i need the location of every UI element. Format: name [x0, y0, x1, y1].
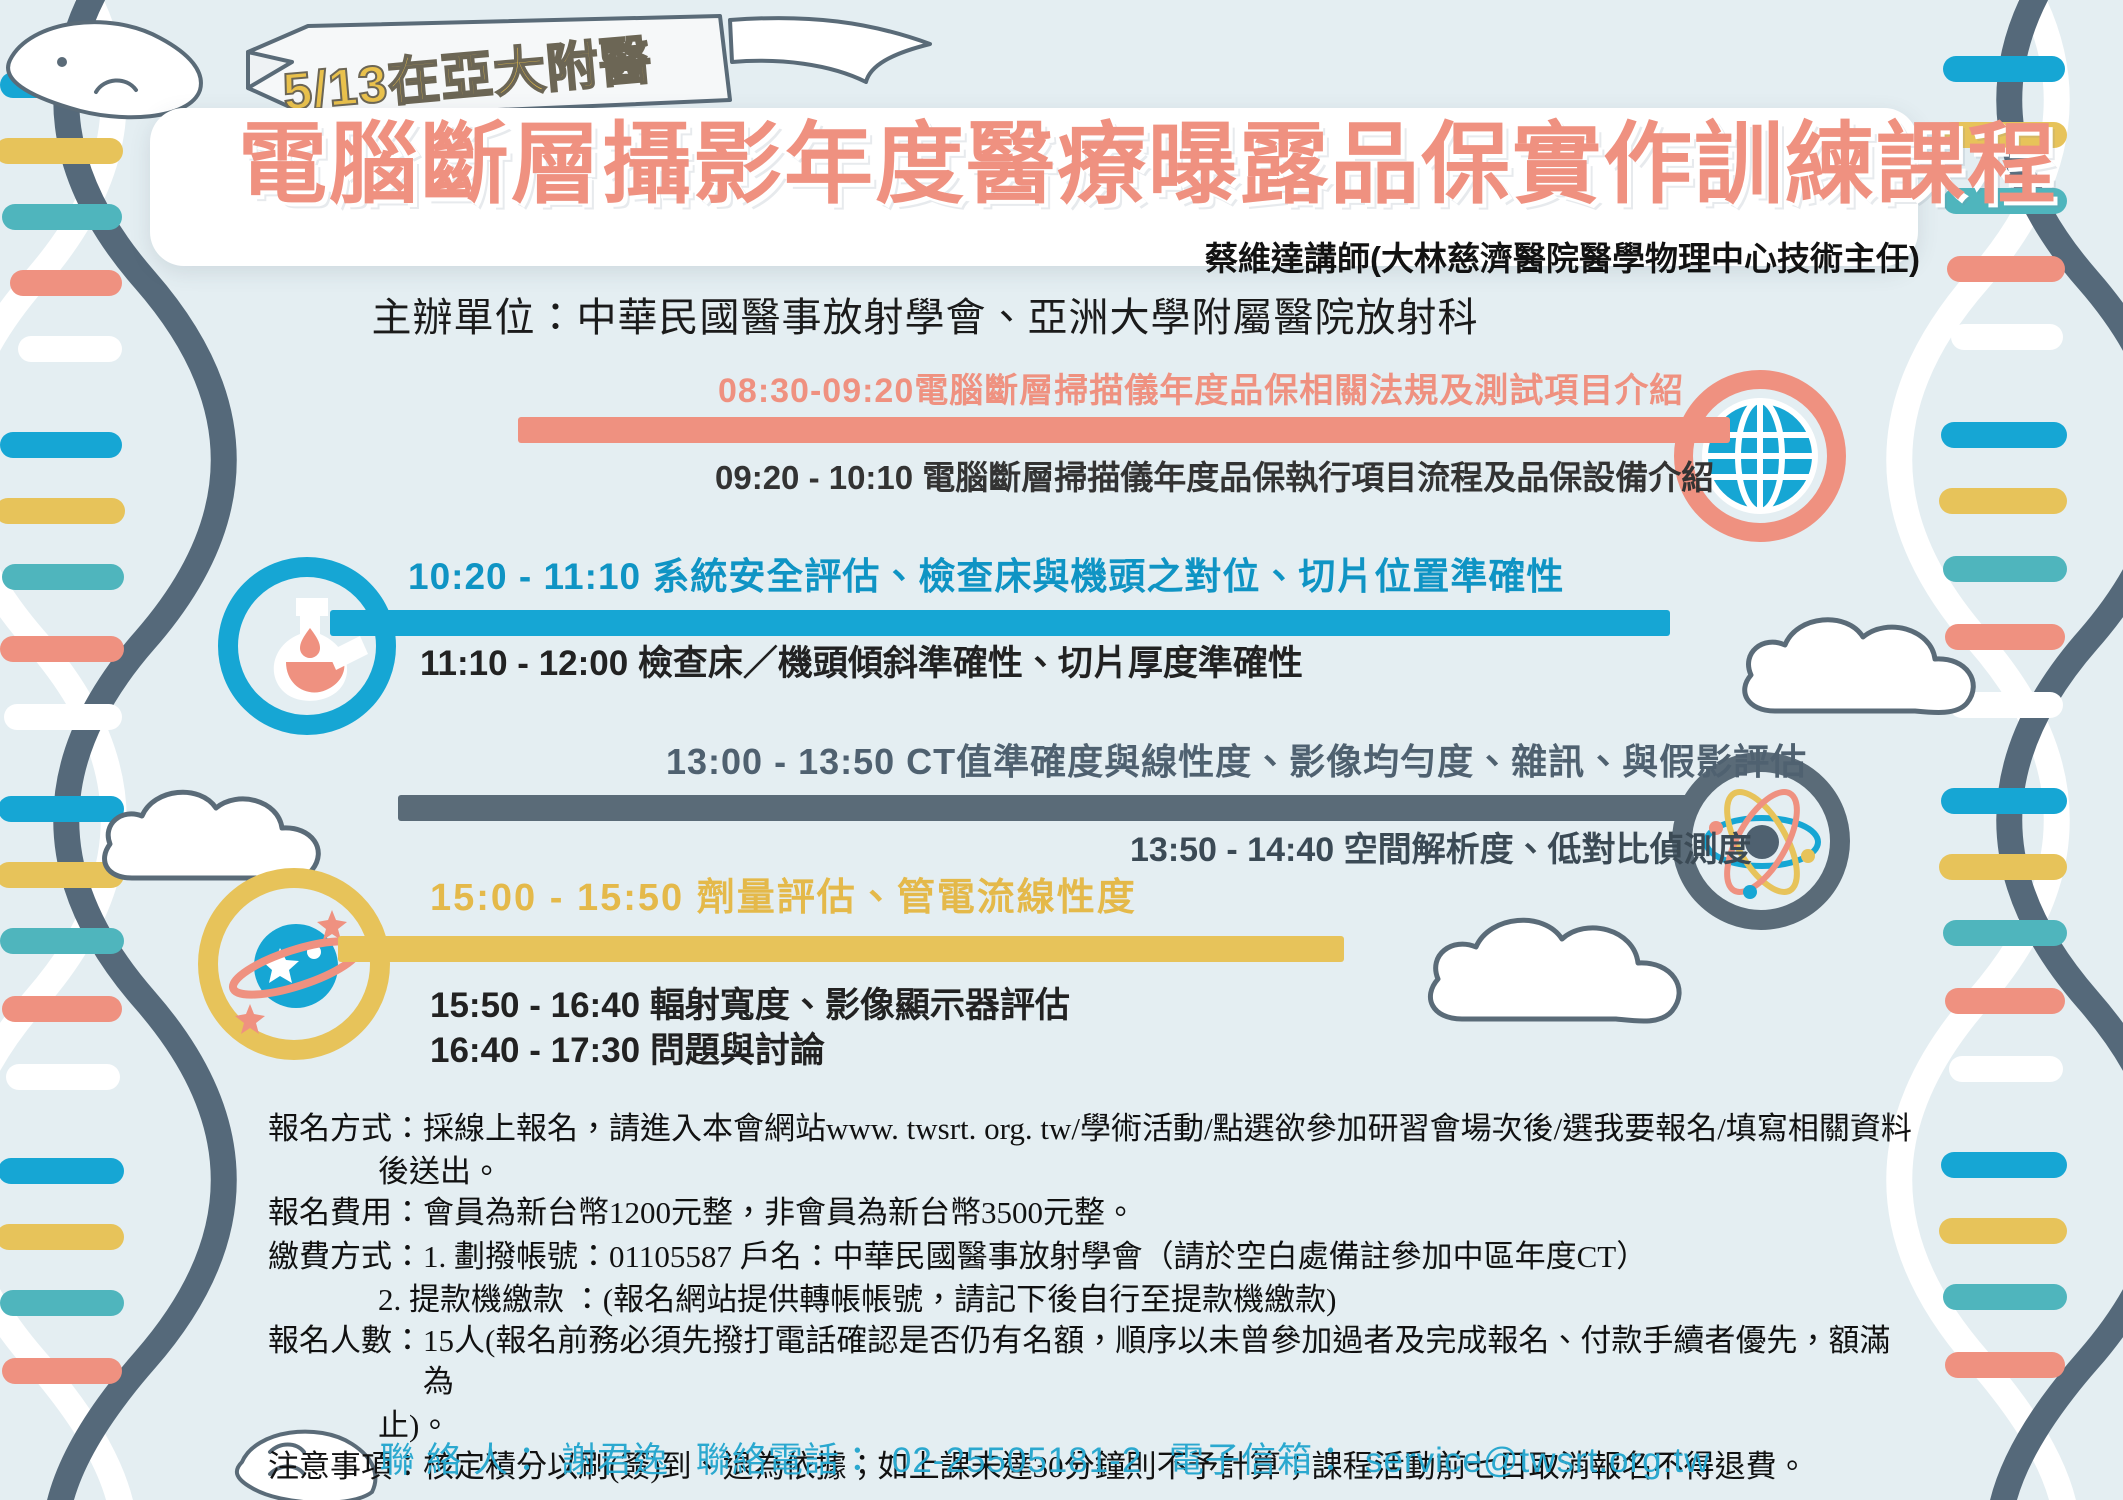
speaker-label: 蔡維達講師(大林慈濟醫院醫學物理中心技術主任)	[1020, 232, 1920, 280]
capacity-label: 報名人數：	[268, 1320, 423, 1361]
schedule-bar-gold	[338, 936, 1344, 962]
schedule-bar-grey	[398, 795, 1688, 821]
registration-row: 報名方式： 採線上報名，請進入本會網站www. twsrt. org. tw/學…	[268, 1108, 1918, 1149]
registration-method-value: 採線上報名，請進入本會網站www. twsrt. org. tw/學術活動/點選…	[423, 1108, 1918, 1149]
globe-ring	[1674, 370, 1846, 542]
schedule-bar-salmon	[518, 417, 1730, 443]
cloud-icon	[1420, 905, 1710, 1045]
cloud-icon	[1735, 605, 2005, 735]
registration-fee-value: 會員為新台幣1200元整，非會員為新台幣3500元整。	[423, 1192, 1918, 1233]
schedule-item-2: 10:20 - 11:10 系統安全評估、檢查床與機頭之對位、切片位置準確性	[408, 557, 1564, 598]
contact-phone-value[interactable]: 02-25505181-2	[892, 1441, 1142, 1480]
dna-helix-right	[1883, 0, 2123, 1500]
contact-email-label: 電子信箱：	[1169, 1441, 1349, 1480]
page-title: 電腦斷層攝影年度醫療曝露品保實作訓練課程	[238, 118, 1878, 211]
capacity-value: 15人(報名前務必須先撥打電話確認是否仍有名額，順序以未曾參加過者及完成報名、付…	[423, 1320, 1918, 1402]
schedule-item-5: 13:50 - 14:40 空間解析度、低對比偵測度	[1130, 832, 1752, 869]
contact-email-value[interactable]: service@twsrt.org.tw	[1365, 1441, 1710, 1480]
contact-person-value: 謝君逸	[561, 1441, 669, 1480]
schedule-item-4: 13:00 - 13:50 CT值準確度與線性度、影像均勻度、雜訊、與假影評估	[666, 742, 1807, 782]
schedule-item-1: 09:20 - 10:10 電腦斷層掃描儀年度品保執行項目流程及品保設備介紹	[715, 460, 1714, 496]
schedule-item-3: 11:10 - 12:00 檢查床／機頭傾斜準確性、切片厚度準確性	[420, 645, 1303, 684]
payment-method-continuation: 2. 提款機繳款 ：(報名網站提供轉帳帳號，請記下後自行至提款機繳款)	[268, 1279, 1918, 1320]
registration-method-label: 報名方式：	[268, 1108, 423, 1149]
organizer-label: 主辦單位：中華民國醫事放射學會、亞洲大學附屬醫院放射科	[0, 285, 1850, 343]
registration-row: 繳費方式： 1. 劃撥帳號：01105587 戶名：中華民國醫事放射學會（請於空…	[268, 1236, 1918, 1277]
registration-row: 報名人數： 15人(報名前務必須先撥打電話確認是否仍有名額，順序以未曾參加過者及…	[268, 1320, 1918, 1402]
flask-ring	[218, 557, 396, 735]
contact-footer: 聯 絡 人：謝君逸 聯絡電話：02-25505181-2 電子信箱：servic…	[0, 1432, 2090, 1483]
poster-root: 5/13在亞大附醫 電腦斷層攝影年度醫療曝露品保實作訓練課程 蔡維達講師(大林慈…	[0, 0, 2123, 1500]
schedule-item-6: 15:00 - 15:50 劑量評估、管電流線性度	[430, 878, 1137, 920]
contact-person-label: 聯 絡 人：	[380, 1441, 545, 1480]
schedule-bar-blue	[330, 610, 1670, 636]
registration-method-continuation: 後送出。	[268, 1151, 1918, 1192]
dna-decoration-right	[1883, 0, 2123, 1500]
contact-phone-label: 聯絡電話：	[696, 1441, 876, 1480]
payment-method-label: 繳費方式：	[268, 1236, 423, 1277]
planet-ring	[198, 868, 390, 1060]
schedule-item-0: 08:30-09:20電腦斷層掃描儀年度品保相關法規及測試項目介紹	[718, 373, 1684, 410]
payment-method-value: 1. 劃撥帳號：01105587 戶名：中華民國醫事放射學會（請於空白處備註參加…	[423, 1236, 1918, 1277]
registration-row: 報名費用： 會員為新台幣1200元整，非會員為新台幣3500元整。	[268, 1192, 1918, 1233]
registration-fee-label: 報名費用：	[268, 1192, 423, 1233]
schedule-item-8: 16:40 - 17:30 問題與討論	[430, 1032, 825, 1071]
schedule-item-7: 15:50 - 16:40 輻射寬度、影像顯示器評估	[430, 987, 1070, 1026]
